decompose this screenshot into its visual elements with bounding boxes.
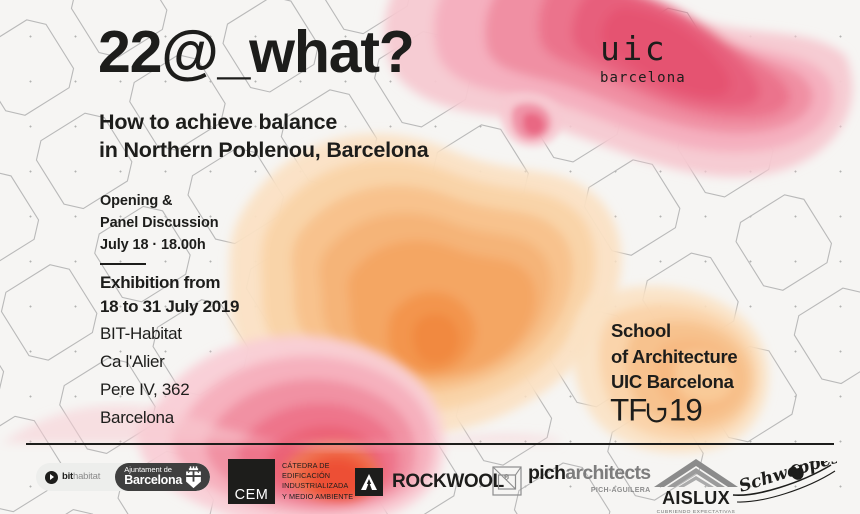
picharchitects-logo[interactable]: picharchitects PICH-AGUILERA (492, 464, 650, 496)
pich-label-grey: architects (565, 462, 650, 484)
ajuntament-logo: Ajuntament de Barcelona (115, 463, 210, 491)
pich-mark-icon (492, 466, 522, 496)
school-line-1: School (611, 318, 737, 344)
uic-logo-wordmark: uic (600, 32, 686, 65)
cem-mark-icon: CEM (228, 459, 275, 504)
cem-mark-label: CEM (235, 488, 269, 503)
cem-line-1: CÁTEDRA DE (282, 461, 353, 471)
uic-logo-subtitle: barcelona (600, 71, 686, 85)
ajuntament-label-big: Barcelona (124, 474, 182, 487)
cem-description: CÁTEDRA DE EDIFICACIÓN INDUSTRIALIZADA Y… (282, 461, 353, 504)
exhibition-line-1: Exhibition from (100, 271, 239, 294)
bithabitat-label-bold: bit (62, 471, 73, 482)
bithabitat-ajuntament-logo[interactable]: bithabitat Ajuntament de Barcelona (36, 463, 210, 491)
school-line-2: of Architecture (611, 344, 737, 370)
uic-barcelona-logo: uic barcelona (600, 32, 686, 85)
opening-line-1: Opening & (100, 190, 239, 212)
aislux-mark-icon (653, 458, 739, 488)
poster-canvas: 22@_what? How to achieve balance in Nort… (0, 0, 860, 514)
barcelona-crest-icon (182, 465, 205, 489)
venue-line-2: Ca l'Alier (100, 350, 239, 374)
schweppes-logo[interactable]: Schweppes (731, 461, 837, 505)
cem-line-3: INDUSTRIALIZADA (282, 481, 353, 491)
tfg-year-text: 19 (669, 392, 702, 427)
ajuntament-wordmark: Ajuntament de Barcelona (124, 466, 182, 487)
pich-main-label: picharchitects (528, 464, 650, 484)
venue-line-1: BIT-Habitat (100, 322, 239, 346)
tfg19-logo: TF 19 (608, 392, 726, 428)
school-line-3: UIC Barcelona (611, 369, 737, 395)
cem-logo[interactable]: CEM CÁTEDRA DE EDIFICACIÓN INDUSTRIALIZA… (228, 459, 353, 504)
event-divider-rule (100, 263, 146, 265)
rockwool-mark-icon (355, 468, 383, 496)
pich-sublabel: PICH-AGUILERA (528, 487, 650, 494)
cem-line-2: EDIFICACIÓN (282, 471, 353, 481)
tfg-prefix-text: TF (610, 392, 646, 427)
exhibition-line-2: 18 to 31 July 2019 (100, 295, 239, 318)
schweppes-mark-icon: Schweppes (731, 461, 837, 505)
venue-line-3: Pere IV, 362 (100, 378, 239, 402)
footer-divider (26, 443, 834, 445)
tfg-stylized-g-icon (648, 403, 665, 421)
rockwool-logo[interactable]: ROCKWOOL® (355, 468, 509, 496)
poster-content: 22@_what? How to achieve balance in Nort… (0, 0, 860, 514)
event-details: Opening & Panel Discussion July 18 · 18.… (100, 190, 239, 431)
play-circle-icon (45, 471, 58, 484)
opening-line-3: July 18 · 18.00h (100, 234, 239, 256)
bithabitat-logo: bithabitat (36, 471, 115, 484)
subtitle-line-1: How to achieve balance (99, 108, 428, 136)
sponsor-logos-bar: bithabitat Ajuntament de Barcelona (0, 452, 860, 514)
aislux-wordmark: AISLUX (650, 489, 742, 507)
school-name: School of Architecture UIC Barcelona (611, 318, 737, 395)
pich-wordmark: picharchitects PICH-AGUILERA (528, 464, 650, 494)
cem-line-4: Y MEDIO AMBIENTE (282, 492, 353, 502)
aislux-logo[interactable]: AISLUX CUBRIENDO EXPECTATIVAS (650, 458, 742, 514)
venue-line-4: Barcelona (100, 406, 239, 430)
opening-line-2: Panel Discussion (100, 212, 239, 234)
aislux-tagline: CUBRIENDO EXPECTATIVAS (650, 510, 742, 514)
page-title: 22@_what? (98, 23, 414, 82)
page-subtitle: How to achieve balance in Northern Poble… (99, 108, 428, 165)
bithabitat-label-light: habitat (73, 471, 100, 482)
bithabitat-wordmark: bithabitat (62, 472, 100, 482)
rockwool-label: ROCKWOOL (392, 471, 504, 492)
subtitle-line-2: in Northern Poblenou, Barcelona (99, 136, 428, 164)
pich-label-dark: pich (528, 462, 565, 484)
